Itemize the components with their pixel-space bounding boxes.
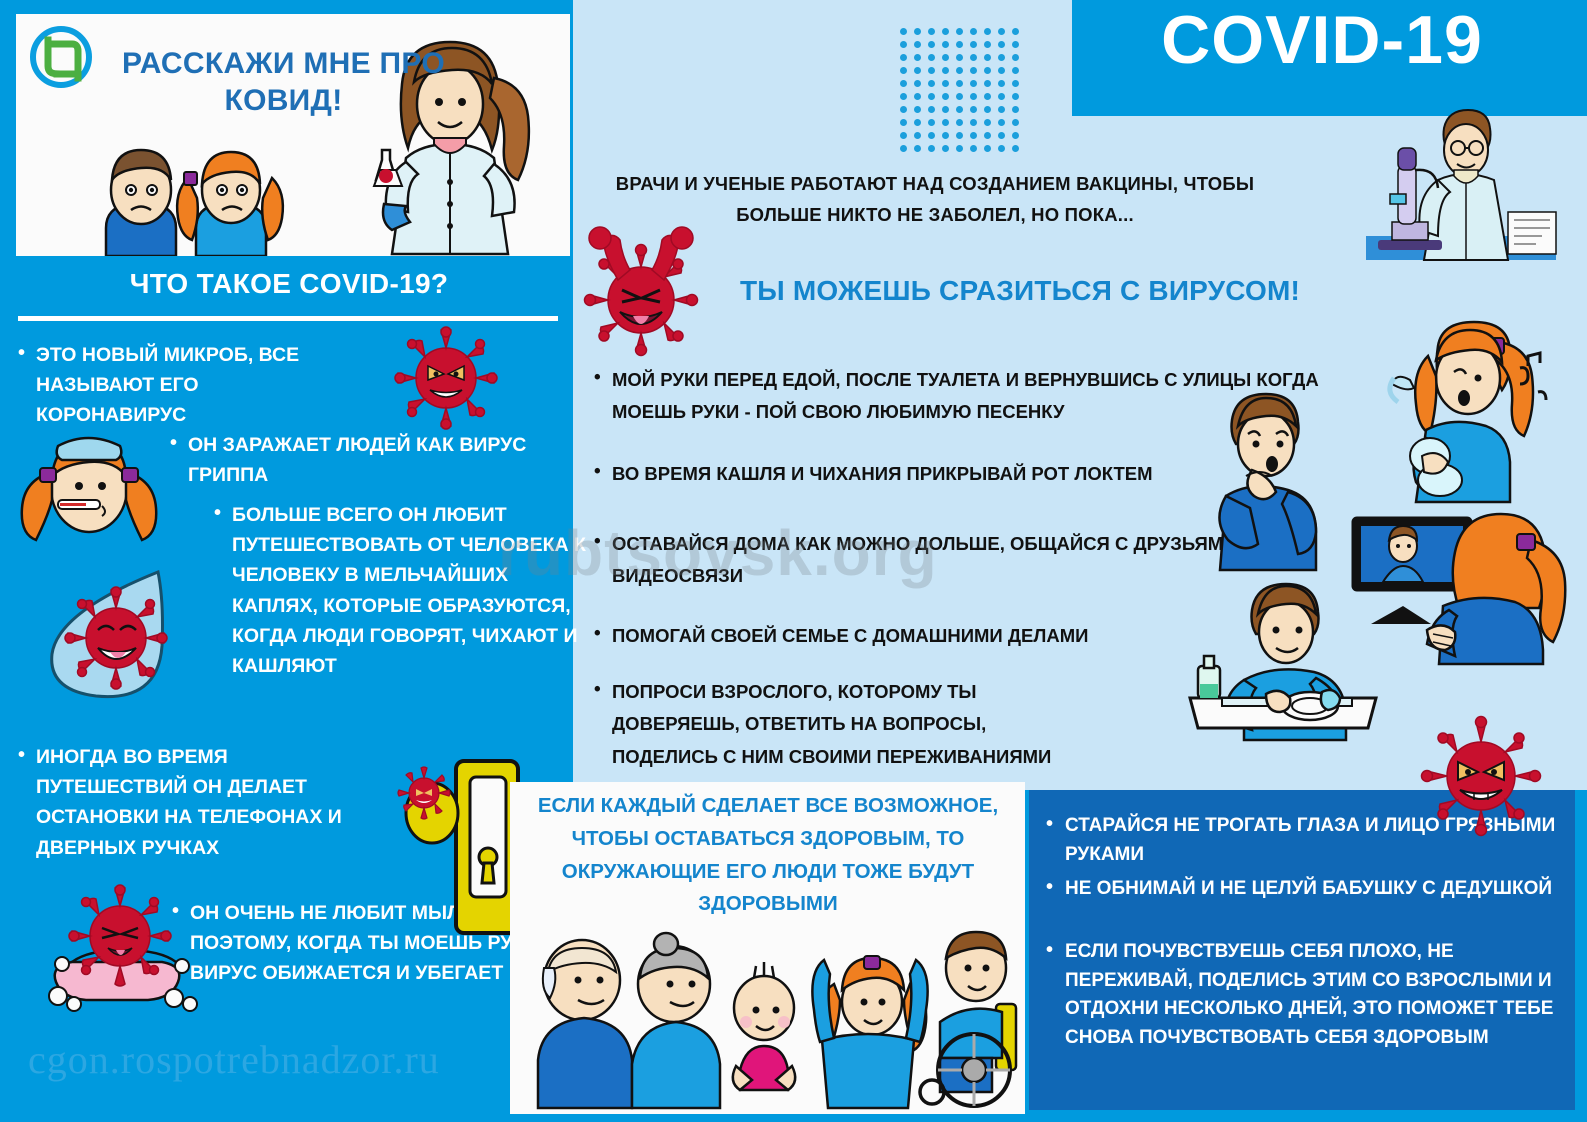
decor-dot [942,67,949,74]
decor-dot [998,28,1005,35]
decor-dot [956,132,963,139]
left-section-heading: ЧТО ТАКОЕ COVID-19? [14,268,564,300]
decor-dot [984,145,991,152]
decor-dot [956,119,963,126]
decor-dot [998,119,1005,126]
decor-dot [998,145,1005,152]
decor-dot [984,28,991,35]
decor-dot [998,93,1005,100]
organization-logo [28,24,94,90]
watermark-center: rubtsovsk.org [498,516,938,590]
decor-dot [900,28,907,35]
decor-dot [970,28,977,35]
decor-dot [900,80,907,87]
decor-dot [970,80,977,87]
decor-dot [984,132,991,139]
decor-dot [1012,80,1019,87]
sick-girl-illustration [14,424,164,542]
decor-dot [900,106,907,113]
decor-dot [984,93,991,100]
decor-dot [900,119,907,126]
soap-virus-illustration [34,886,214,1026]
cough-elbow-boy-illustration [1190,390,1340,570]
center-bullet-5: ПОПРОСИ ВЗРОСЛОГО, КОТОРОМУ ТЫ ДОВЕРЯЕШЬ… [590,676,1072,773]
fight-section-title: ТЫ МОЖЕШЬ СРАЗИТЬСЯ С ВИРУСОМ! [700,275,1340,307]
decor-dot [942,119,949,126]
decor-dot [984,54,991,61]
decor-dot [1012,41,1019,48]
decor-dot [956,106,963,113]
decor-dot [914,106,921,113]
decor-dot [984,119,991,126]
hero-card: РАССКАЖИ МНЕ ПРО КОВИД! [16,14,570,256]
evil-virus-icon [1418,716,1544,836]
decor-dot [942,54,949,61]
bottom-right-bullet-3: ЕСЛИ ПОЧУВСТВУЕШЬ СЕБЯ ПЛОХО, НЕ ПЕРЕЖИВ… [1042,938,1585,1052]
angry-virus-icon [392,324,500,432]
decor-dot [970,93,977,100]
droplet-virus-illustration [38,560,198,700]
decor-dot [970,41,977,48]
decor-dot [1012,28,1019,35]
two-children-illustration [76,132,296,256]
decor-dot [928,119,935,126]
diverse-people-illustration [524,930,1014,1110]
decor-dot [942,41,949,48]
decor-dot [998,106,1005,113]
decor-dot [984,41,991,48]
decor-dot [928,106,935,113]
left-section-divider [18,316,558,321]
doctors-note: ВРАЧИ И УЧЕНЫЕ РАБОТАЮТ НАД СОЗДАНИЕМ ВА… [580,168,1290,231]
decor-dot [956,28,963,35]
decor-dot [970,119,977,126]
decor-dot [942,93,949,100]
decor-dot [928,67,935,74]
handwashing-girl-illustration [1360,320,1570,505]
dishwashing-boy-illustration [1170,580,1400,740]
decor-dot [928,93,935,100]
decor-dot [914,80,921,87]
decor-dot [970,67,977,74]
page-title: COVID-19 [1072,6,1572,74]
decor-dot [914,119,921,126]
decor-dot [928,54,935,61]
decor-dot [998,132,1005,139]
decor-dot [914,41,921,48]
decor-dot [928,132,935,139]
decor-dot [970,54,977,61]
decor-dot [956,145,963,152]
decor-dot [984,106,991,113]
decor-dot [914,93,921,100]
decor-dot [914,67,921,74]
decor-dot [984,67,991,74]
decor-dot [928,145,935,152]
left-bullet-4: ИНОГДА ВО ВРЕМЯ ПУТЕШЕСТВИЙ ОН ДЕЛАЕТ ОС… [16,742,366,863]
bottom-card-title: ЕСЛИ КАЖДЫЙ СДЕЛАЕТ ВСЕ ВОЗМОЖНОЕ, ЧТОБЫ… [528,790,1008,921]
decor-dot [928,28,935,35]
decor-dot [970,145,977,152]
decor-dot [900,145,907,152]
decor-dot [942,80,949,87]
decor-dot [970,106,977,113]
decor-dot [942,145,949,152]
decor-dot [1012,119,1019,126]
decor-dot [1012,132,1019,139]
decor-dot [900,132,907,139]
dot-grid-decoration [900,28,1026,154]
decor-dot [942,28,949,35]
decor-dot [956,54,963,61]
decor-dot [942,132,949,139]
decor-dot [914,132,921,139]
decor-dot [984,80,991,87]
decor-dot [998,67,1005,74]
decor-dot [914,145,921,152]
decor-dot [956,41,963,48]
decor-dot [928,41,935,48]
decor-dot [956,93,963,100]
decor-dot [914,54,921,61]
watermark-bottom-left: cgon.rospotrebnadzor.ru [28,1036,440,1083]
poster-root: COVID-19 [0,0,1587,1122]
decor-dot [998,41,1005,48]
sneezing-virus-icon [578,228,704,354]
decor-dot [900,67,907,74]
left-bullet-1: ЭТО НОВЫЙ МИКРОБ, ВСЕ НАЗЫВАЮТ ЕГО КОРОН… [16,340,336,431]
bottom-right-bullet-2: НЕ ОБНИМАЙ И НЕ ЦЕЛУЙ БАБУШКУ С ДЕДУШКОЙ [1042,875,1575,904]
decor-dot [1012,67,1019,74]
decor-dot [900,54,907,61]
decor-dot [956,67,963,74]
decor-dot [900,93,907,100]
decor-dot [914,28,921,35]
left-bullet-2: ОН ЗАРАЖАЕТ ЛЮДЕЙ КАК ВИРУС ГРИППА [168,430,588,490]
decor-dot [970,132,977,139]
decor-dot [900,41,907,48]
hero-title: РАССКАЖИ МНЕ ПРО КОВИД! [111,46,456,119]
decor-dot [998,80,1005,87]
decor-dot [942,106,949,113]
microscope-scientist-illustration [1358,110,1573,270]
decor-dot [928,80,935,87]
decor-dot [1012,106,1019,113]
decor-dot [1012,54,1019,61]
decor-dot [956,80,963,87]
decor-dot [998,54,1005,61]
decor-dot [1012,93,1019,100]
decor-dot [1012,145,1019,152]
